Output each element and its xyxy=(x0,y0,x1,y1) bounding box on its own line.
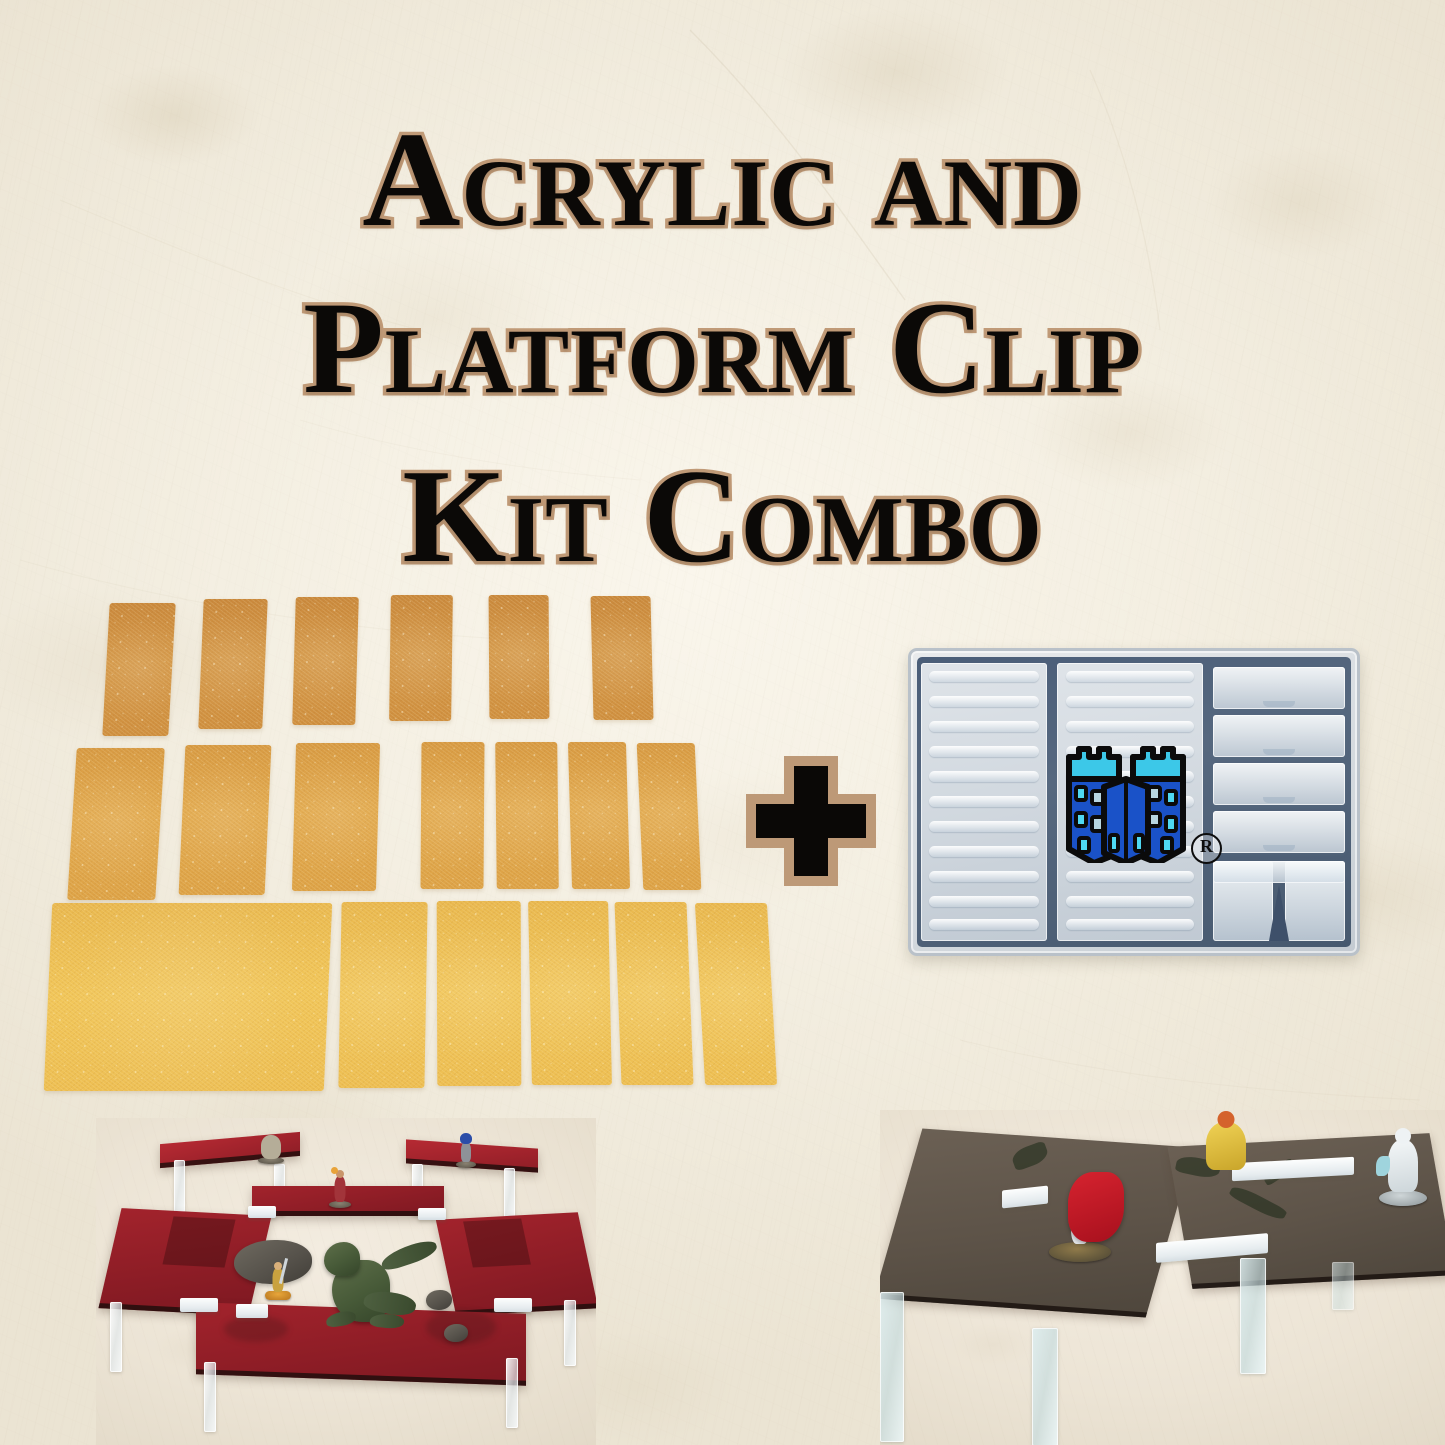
red-platform-photo xyxy=(96,1118,596,1445)
acrylic-tile xyxy=(179,745,272,895)
acrylic-tile xyxy=(528,901,612,1085)
acrylic-tile xyxy=(292,743,380,891)
acrylic-tile xyxy=(292,597,359,725)
acrylic-tile xyxy=(198,599,267,729)
acrylic-tile xyxy=(568,742,630,889)
acrylic-tile xyxy=(102,603,175,736)
acrylic-tile xyxy=(44,903,333,1091)
acrylic-tile xyxy=(590,596,653,720)
red-cape-hero-miniature xyxy=(1040,1146,1120,1262)
title-line-3: Kit Combo xyxy=(0,432,1445,600)
storage-case: R xyxy=(908,648,1360,956)
acrylic-tile xyxy=(614,902,693,1085)
acrylic-tile xyxy=(637,743,702,890)
acrylic-tile xyxy=(489,595,550,719)
knight-miniature xyxy=(264,1252,292,1300)
title-line-2: Platform Clip xyxy=(0,264,1445,432)
plus-symbol xyxy=(746,756,876,886)
acrylic-tile xyxy=(495,742,559,889)
case-interior: R xyxy=(917,657,1351,947)
acrylic-tile xyxy=(695,903,777,1085)
acrylic-tile xyxy=(420,742,484,889)
poster-title: Acrylic and Platform Clip Kit Combo xyxy=(0,96,1445,600)
blue-helm-miniature xyxy=(454,1126,478,1168)
product-poster: Acrylic and Platform Clip Kit Combo xyxy=(0,0,1445,1445)
acrylic-tile xyxy=(437,901,522,1086)
registered-trademark-icon: R xyxy=(1191,833,1222,864)
plus-core-vertical xyxy=(794,768,828,874)
white-robe-miniature xyxy=(1372,1110,1434,1206)
acrylic-tile xyxy=(67,748,165,900)
acrylic-tile xyxy=(389,595,453,721)
castle-logo xyxy=(1063,735,1189,863)
dragon-miniature xyxy=(320,1236,446,1334)
compartment-right-clips xyxy=(1211,663,1347,941)
ranger-miniature xyxy=(328,1160,352,1208)
yellow-robe-miniature xyxy=(1198,1110,1254,1170)
title-line-1: Acrylic and xyxy=(0,96,1445,264)
acrylic-tile-sheet xyxy=(0,585,790,1105)
compartment-left-ribbed xyxy=(921,663,1047,941)
pale-beast-miniature xyxy=(256,1124,286,1164)
smoke-platform-photo xyxy=(880,1110,1445,1445)
acrylic-tile xyxy=(338,902,427,1088)
